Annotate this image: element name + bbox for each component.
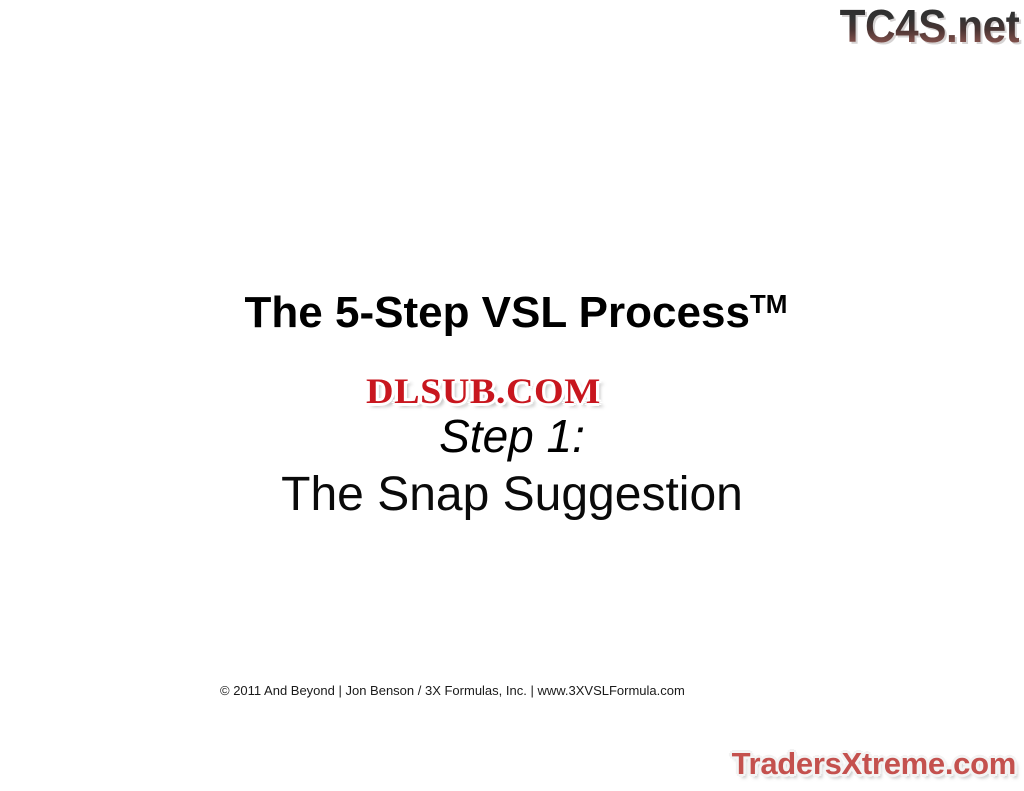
subtitle-step-name: The Snap Suggestion xyxy=(0,466,1024,524)
watermark-dlsub: DLSUB.COM xyxy=(366,372,601,410)
brand-logo-tc4s: TC4S.net xyxy=(839,2,1019,50)
footer-copyright: © 2011 And Beyond | Jon Benson / 3X Form… xyxy=(220,682,685,699)
slide-title-text: The 5-Step VSL Process xyxy=(245,288,750,337)
trademark-symbol: TM xyxy=(750,289,788,319)
watermark-tradersxtreme: TradersXtreme.com xyxy=(732,747,1016,781)
slide-title: The 5-Step VSL ProcessTM xyxy=(0,278,1024,339)
presentation-slide: TC4S.net TC4S.net The 5-Step VSL Process… xyxy=(0,0,1024,791)
slide-subtitle-block: Step 1: The Snap Suggestion xyxy=(0,408,1024,524)
subtitle-step-label: Step 1: xyxy=(0,408,1024,464)
